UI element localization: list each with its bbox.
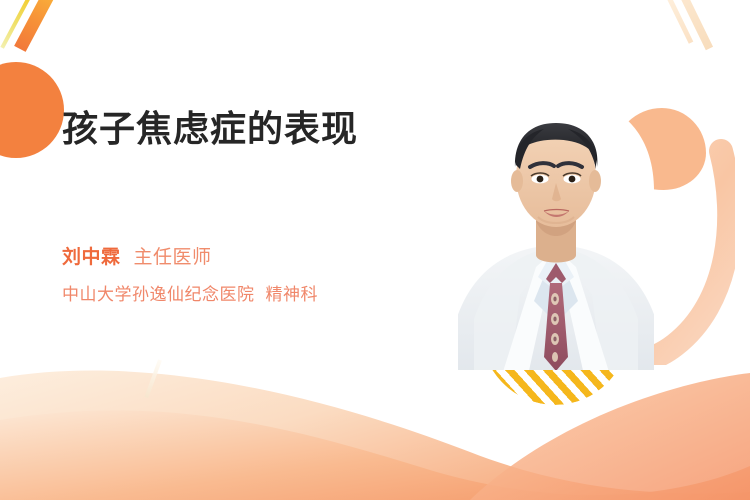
doctor-portrait: [458, 95, 654, 370]
title-block: 孩子焦虑症的表现: [62, 106, 482, 151]
page-title: 孩子焦虑症的表现: [62, 106, 482, 151]
doctor-rank: 主任医师: [134, 247, 212, 268]
hospital-name: 中山大学孙逸仙纪念医院: [62, 285, 255, 304]
slide-card: 孩子焦虑症的表现 刘中霖主任医师 中山大学孙逸仙纪念医院精神科: [0, 0, 750, 500]
portrait-cluster: [420, 95, 750, 395]
doctor-name: 刘中霖: [62, 247, 121, 268]
department-name: 精神科: [266, 285, 319, 304]
